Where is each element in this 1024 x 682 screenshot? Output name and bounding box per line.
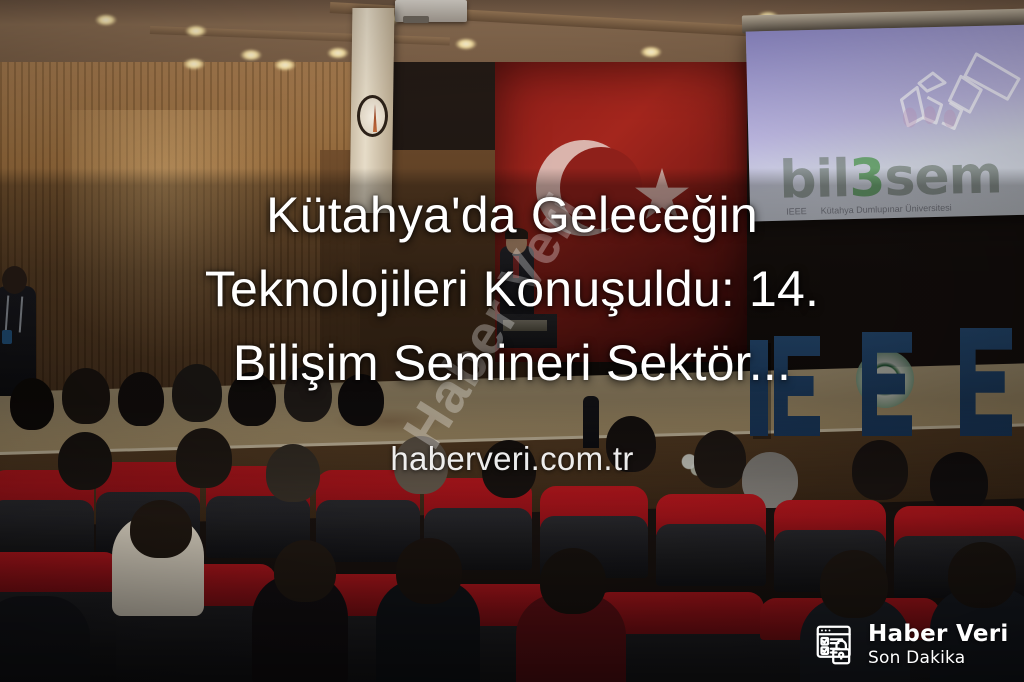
- projector: [395, 0, 467, 22]
- ceiling-downlight: [327, 47, 349, 59]
- audience-person: [0, 596, 90, 682]
- audience-head: [396, 538, 462, 604]
- seat: [656, 524, 766, 586]
- logo-subtitle: Son Dakika: [868, 650, 1009, 667]
- audience-head: [948, 542, 1016, 608]
- audience-head: [820, 550, 888, 618]
- hand-illustration-icon: [856, 44, 1024, 158]
- audience-head: [274, 540, 336, 602]
- headline: Kütahya'da Geleceğin Teknolojileri Konuş…: [0, 178, 1024, 400]
- url-watermark: haberveri.com.tr: [0, 440, 1024, 478]
- ceiling-downlight: [274, 59, 296, 71]
- ceiling-downlight: [185, 25, 207, 37]
- ceiling-downlight: [640, 46, 662, 58]
- site-logo[interactable]: Haber Veri Son Dakika: [814, 622, 1009, 667]
- logo-text: Haber Veri Son Dakika: [868, 623, 1009, 667]
- logo-title: Haber Veri: [868, 623, 1009, 646]
- news-thumbnail: bil3sem IEEE Kütahya Dumlupınar Üniversi…: [0, 0, 1024, 682]
- university-emblem-icon: [357, 95, 388, 137]
- ceiling-downlight: [183, 58, 205, 70]
- document-lock-icon: [814, 622, 859, 667]
- ceiling-downlight: [455, 38, 477, 50]
- audience-head: [130, 500, 192, 558]
- ceiling-downlight: [95, 14, 117, 26]
- audience-head: [540, 548, 606, 614]
- seat: [0, 552, 120, 592]
- ceiling-downlight: [240, 49, 262, 61]
